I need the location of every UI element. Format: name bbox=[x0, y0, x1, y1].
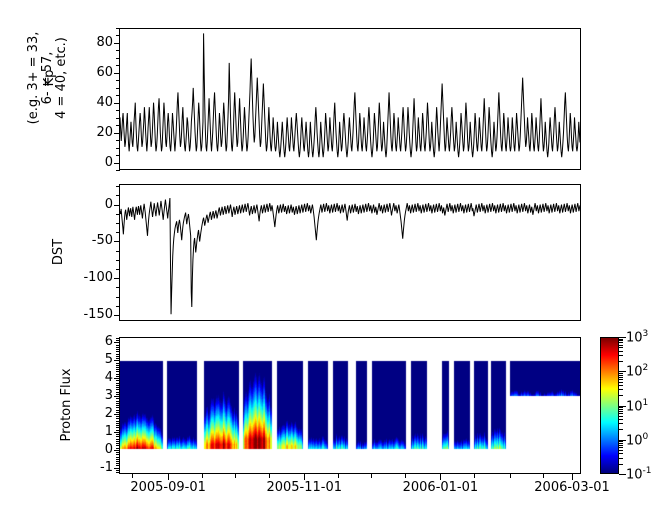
flux-minor-tick bbox=[116, 380, 120, 381]
flux-minor-tick bbox=[116, 463, 120, 464]
colorbar-minor-tick bbox=[619, 429, 623, 430]
flux-ytick-label-2: 2 bbox=[73, 407, 113, 420]
colorbar-minor-tick bbox=[619, 385, 623, 386]
dst-line-trace bbox=[120, 198, 580, 314]
colorbar-minor-tick bbox=[619, 361, 623, 362]
colorbar-minor-tick bbox=[619, 389, 623, 390]
kp-minor-tick bbox=[116, 88, 120, 89]
colorbar-minor-tick bbox=[619, 345, 623, 346]
kp-minor-tick bbox=[116, 148, 120, 149]
flux-minor-tick bbox=[116, 392, 120, 393]
flux-minor-tick bbox=[116, 412, 120, 413]
colorbar-minor-tick bbox=[619, 373, 623, 374]
dst-minor-tick bbox=[116, 278, 120, 279]
kp-axis-label-line2: (e.g. 3+ = 33, bbox=[27, 0, 41, 158]
dst-minor-tick bbox=[116, 214, 120, 215]
dst-minor-tick bbox=[116, 260, 120, 261]
x-minor-tick bbox=[132, 474, 133, 478]
flux-minor-tick bbox=[116, 443, 120, 444]
kp-minor-tick bbox=[116, 110, 120, 111]
colorbar-minor-tick bbox=[619, 382, 623, 383]
kp-minor-tick bbox=[116, 140, 120, 141]
flux-ytick-label-5: 5 bbox=[73, 353, 113, 366]
flux-minor-tick bbox=[116, 454, 120, 455]
colorbar-minor-tick bbox=[619, 375, 623, 376]
colorbar-minor-tick bbox=[619, 339, 623, 340]
flux-minor-tick bbox=[116, 450, 120, 451]
dst-minor-tick bbox=[116, 251, 120, 252]
x-minor-tick bbox=[440, 474, 441, 478]
kp-minor-tick bbox=[116, 118, 120, 119]
flux-minor-tick bbox=[116, 401, 120, 402]
colorbar-minor-tick bbox=[619, 355, 623, 356]
flux-minor-tick bbox=[116, 407, 120, 408]
flux-minor-tick bbox=[116, 403, 120, 404]
x-tick-label-2005-09-01: 2005-09-01 bbox=[118, 481, 218, 494]
flux-minor-tick bbox=[116, 383, 120, 384]
colorbar-minor-tick bbox=[619, 379, 623, 380]
flux-minor-tick bbox=[116, 356, 120, 357]
colorbar-minor-tick bbox=[619, 447, 623, 448]
flux-minor-tick bbox=[116, 468, 120, 469]
flux-minor-tick bbox=[116, 363, 120, 364]
colorbar bbox=[600, 337, 619, 474]
flux-ytick-label-0: 0 bbox=[73, 443, 113, 456]
colorbar-minor-tick bbox=[619, 409, 623, 410]
colorbar-minor-tick bbox=[619, 416, 623, 417]
colorbar-gradient bbox=[601, 338, 618, 473]
colorbar-minor-tick bbox=[619, 413, 623, 414]
dst-minor-tick bbox=[116, 205, 120, 206]
dst-minor-tick bbox=[116, 195, 120, 196]
flux-minor-tick bbox=[116, 342, 120, 343]
x-minor-tick bbox=[235, 474, 236, 478]
x-minor-tick bbox=[371, 474, 372, 478]
x-minor-tick bbox=[510, 474, 511, 478]
flux-minor-tick bbox=[116, 414, 120, 415]
dst-ytick-label-neg150: -150 bbox=[73, 308, 113, 321]
kp-ytick-label-20: 20 bbox=[73, 126, 113, 139]
kp-line-trace bbox=[120, 33, 580, 157]
flux-minor-tick bbox=[116, 470, 120, 471]
x-minor-tick bbox=[269, 474, 270, 478]
kp-minor-tick bbox=[116, 65, 120, 66]
kp-minor-tick bbox=[116, 125, 120, 126]
colorbar-minor-tick bbox=[619, 441, 623, 442]
flux-minor-tick bbox=[116, 371, 120, 372]
dst-minor-tick bbox=[116, 241, 120, 242]
flux-minor-tick bbox=[116, 472, 120, 473]
colorbar-minor-tick bbox=[619, 411, 623, 412]
dst-minor-tick bbox=[116, 186, 120, 187]
flux-minor-tick bbox=[116, 365, 120, 366]
flux-minor-tick bbox=[116, 430, 120, 431]
x-minor-tick bbox=[405, 474, 406, 478]
dst-minor-tick bbox=[116, 315, 120, 316]
colorbar-minor-tick bbox=[619, 340, 623, 341]
flux-minor-tick bbox=[116, 349, 120, 350]
dst-trace-svg bbox=[120, 185, 580, 320]
flux-ytick-label-4: 4 bbox=[73, 371, 113, 384]
kp-minor-tick bbox=[116, 133, 120, 134]
colorbar-label-1e0: 100 bbox=[626, 431, 648, 447]
flux-minor-tick bbox=[116, 427, 120, 428]
flux-minor-tick bbox=[116, 378, 120, 379]
colorbar-tick-1eneg1 bbox=[619, 474, 626, 475]
kp-minor-tick bbox=[116, 43, 120, 44]
kp-axis-label-line3: 6- = 57, bbox=[41, 0, 55, 158]
dst-minor-tick bbox=[116, 232, 120, 233]
flux-minor-tick bbox=[116, 445, 120, 446]
colorbar-minor-tick bbox=[619, 450, 623, 451]
colorbar-tick-1e2 bbox=[619, 371, 626, 372]
flux-ytick-label-neg1: -1 bbox=[73, 461, 113, 474]
dst-minor-tick bbox=[116, 269, 120, 270]
flux-minor-tick bbox=[116, 405, 120, 406]
dst-panel bbox=[119, 184, 581, 321]
flux-minor-tick bbox=[116, 340, 120, 341]
flux-minor-tick bbox=[116, 423, 120, 424]
kp-ytick-label-40: 40 bbox=[73, 96, 113, 109]
kp-minor-tick bbox=[116, 73, 120, 74]
flux-minor-tick bbox=[116, 452, 120, 453]
dst-minor-tick bbox=[116, 287, 120, 288]
flux-minor-tick bbox=[116, 448, 120, 449]
flux-minor-tick bbox=[116, 457, 120, 458]
flux-minor-tick bbox=[116, 351, 120, 352]
flux-minor-tick bbox=[116, 369, 120, 370]
colorbar-minor-tick bbox=[619, 423, 623, 424]
kp-ytick-label-0: 0 bbox=[73, 156, 113, 169]
flux-minor-tick bbox=[116, 394, 120, 395]
proton-flux-spectrogram bbox=[120, 338, 580, 473]
colorbar-minor-tick bbox=[619, 351, 623, 352]
flux-minor-tick bbox=[116, 434, 120, 435]
figure-root: 020406080 Kp (e.g. 3+ = 33, 6- = 57, 4 =… bbox=[0, 0, 665, 523]
proton-flux-axis-label-text: Proton Flux bbox=[60, 355, 74, 455]
flux-minor-tick bbox=[116, 418, 120, 419]
flux-minor-tick bbox=[116, 465, 120, 466]
flux-minor-tick bbox=[116, 459, 120, 460]
colorbar-minor-tick bbox=[619, 342, 623, 343]
colorbar-label-1e3: 103 bbox=[626, 328, 648, 344]
flux-minor-tick bbox=[116, 421, 120, 422]
flux-minor-tick bbox=[116, 347, 120, 348]
flux-minor-tick bbox=[116, 436, 120, 437]
kp-minor-tick bbox=[116, 155, 120, 156]
kp-minor-tick bbox=[116, 163, 120, 164]
kp-minor-tick bbox=[116, 50, 120, 51]
flux-ytick-label-1: 1 bbox=[73, 425, 113, 438]
x-minor-tick bbox=[572, 474, 573, 478]
proton-flux-panel bbox=[119, 337, 581, 474]
flux-minor-tick bbox=[116, 338, 120, 339]
flux-minor-tick bbox=[116, 432, 120, 433]
flux-minor-tick bbox=[116, 416, 120, 417]
flux-minor-tick bbox=[116, 345, 120, 346]
dst-ytick-label-neg100: -100 bbox=[73, 271, 113, 284]
flux-minor-tick bbox=[116, 387, 120, 388]
colorbar-tick-1e3 bbox=[619, 337, 626, 338]
flux-minor-tick bbox=[116, 439, 120, 440]
x-tick-label-2006-03-01: 2006-03-01 bbox=[522, 481, 622, 494]
kp-minor-tick bbox=[116, 35, 120, 36]
flux-minor-tick bbox=[116, 354, 120, 355]
flux-minor-tick bbox=[116, 376, 120, 377]
dst-minor-tick bbox=[116, 306, 120, 307]
colorbar-label-1eneg1: 10-1 bbox=[626, 465, 652, 481]
kp-minor-tick bbox=[116, 103, 120, 104]
flux-minor-tick bbox=[116, 374, 120, 375]
dst-minor-tick bbox=[116, 297, 120, 298]
colorbar-minor-tick bbox=[619, 464, 623, 465]
dst-ytick-label-neg50: -50 bbox=[73, 234, 113, 247]
colorbar-minor-tick bbox=[619, 377, 623, 378]
dst-minor-tick bbox=[116, 223, 120, 224]
flux-ytick-label-6: 6 bbox=[73, 335, 113, 348]
colorbar-minor-tick bbox=[619, 419, 623, 420]
flux-ytick-label-3: 3 bbox=[73, 389, 113, 402]
kp-ytick-label-60: 60 bbox=[73, 66, 113, 79]
flux-minor-tick bbox=[116, 396, 120, 397]
x-tick-label-2005-11-01: 2005-11-01 bbox=[254, 481, 354, 494]
colorbar-minor-tick bbox=[619, 453, 623, 454]
colorbar-minor-tick bbox=[619, 347, 623, 348]
colorbar-label-1e2: 102 bbox=[626, 362, 648, 378]
colorbar-minor-tick bbox=[619, 443, 623, 444]
x-minor-tick bbox=[338, 474, 339, 478]
kp-trace-svg bbox=[120, 29, 580, 169]
flux-minor-tick bbox=[116, 410, 120, 411]
colorbar-label-1e1: 101 bbox=[626, 397, 648, 413]
kp-ytick-label-80: 80 bbox=[73, 36, 113, 49]
x-minor-tick bbox=[474, 474, 475, 478]
dst-ytick-label-0: 0 bbox=[73, 198, 113, 211]
x-minor-tick bbox=[202, 474, 203, 478]
flux-minor-tick bbox=[116, 385, 120, 386]
colorbar-minor-tick bbox=[619, 407, 623, 408]
x-minor-tick bbox=[168, 474, 169, 478]
kp-minor-tick bbox=[116, 80, 120, 81]
flux-minor-tick bbox=[116, 425, 120, 426]
kp-minor-tick bbox=[116, 58, 120, 59]
flux-minor-tick bbox=[116, 358, 120, 359]
colorbar-minor-tick bbox=[619, 395, 623, 396]
flux-minor-tick bbox=[116, 367, 120, 368]
flux-minor-tick bbox=[116, 441, 120, 442]
x-minor-tick bbox=[543, 474, 544, 478]
kp-axis-label-detail: (e.g. 3+ = 33, 6- = 57, 4 = 40, etc.) bbox=[27, 0, 69, 158]
dst-axis-label-text: DST bbox=[52, 222, 66, 282]
kp-panel bbox=[119, 28, 581, 170]
kp-minor-tick bbox=[116, 170, 120, 171]
flux-minor-tick bbox=[116, 360, 120, 361]
colorbar-minor-tick bbox=[619, 445, 623, 446]
flux-minor-tick bbox=[116, 461, 120, 462]
x-tick-label-2006-01-01: 2006-01-01 bbox=[390, 481, 490, 494]
x-minor-tick bbox=[304, 474, 305, 478]
colorbar-minor-tick bbox=[619, 458, 623, 459]
flux-minor-tick bbox=[116, 398, 120, 399]
kp-axis-label-line4: 4 = 40, etc.) bbox=[55, 0, 69, 158]
flux-minor-tick bbox=[116, 389, 120, 390]
proton-flux-axis-label: Proton Flux bbox=[60, 355, 74, 455]
dst-axis-label: DST bbox=[52, 222, 66, 282]
kp-minor-tick bbox=[116, 28, 120, 29]
kp-minor-tick bbox=[116, 95, 120, 96]
